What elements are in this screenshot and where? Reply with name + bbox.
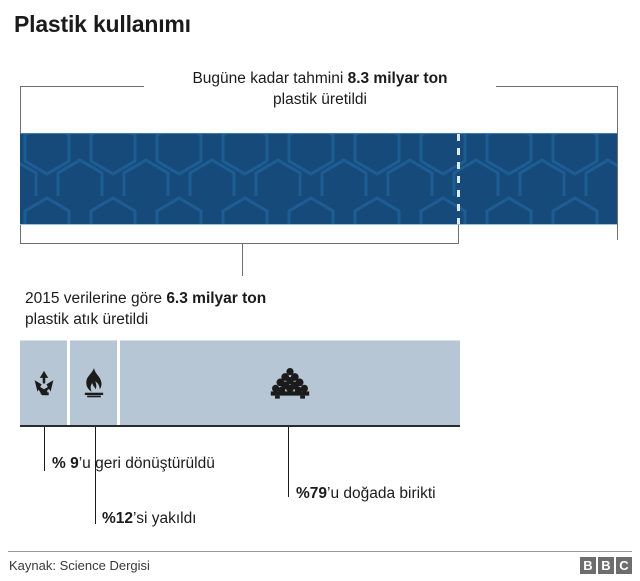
label-burned: %12’si yakıldı <box>102 509 197 529</box>
label-nature-percent: %79 <box>296 485 327 502</box>
trash-pile-icon <box>269 366 311 400</box>
waste-share-dashed-divider <box>457 134 460 224</box>
top-bracket-leg-right <box>617 86 618 240</box>
label-burned-text: ’si yakıldı <box>133 510 196 527</box>
page-title: Plastik kullanımı <box>14 11 191 38</box>
top-bracket-line-left <box>20 86 144 87</box>
total-production-amount: 8.3 milyar ton <box>348 70 448 87</box>
footer-divider <box>8 551 632 552</box>
label-nature-text: ’u doğada birikti <box>327 485 436 502</box>
infographic-root: Plastik kullanımı Bugüne kadar tahmini 8… <box>0 0 640 581</box>
waste-caption-line2: plastik atık üretildi <box>25 311 148 328</box>
source-text: Kaynak: Science Dergisi <box>9 558 150 573</box>
waste-caption-pre: 2015 verilerine göre <box>25 290 166 307</box>
total-production-caption-pre: Bugüne kadar tahmini <box>192 70 347 87</box>
label-nature: %79’u doğada birikti <box>296 484 436 504</box>
flame-icon <box>80 367 108 399</box>
bbc-logo-letter-2: B <box>598 557 614 574</box>
top-bracket-line-right <box>496 86 618 87</box>
waste-amount: 6.3 milyar ton <box>166 290 266 307</box>
leader-line-recycled <box>44 427 45 471</box>
segment-recycled[interactable] <box>20 341 67 425</box>
label-burned-percent: %12 <box>102 510 133 527</box>
leader-line-burned <box>95 427 96 524</box>
label-recycled-percent: % 9 <box>52 455 79 472</box>
waste-caption: 2015 verilerine göre 6.3 milyar ton plas… <box>25 288 266 330</box>
total-production-bar <box>20 134 617 224</box>
label-recycled: % 9’u geri dönüştürüldü <box>52 454 215 474</box>
total-production-caption: Bugüne kadar tahmini 8.3 milyar ton plas… <box>140 68 500 110</box>
label-recycled-text: ’u geri dönüştürüldü <box>79 455 215 472</box>
bottom-bracket-drop-line <box>242 243 243 276</box>
total-production-caption-line2: plastik üretildi <box>273 91 367 108</box>
bbc-logo-letter-1: B <box>580 557 596 574</box>
segment-nature[interactable] <box>120 341 460 425</box>
hexagon-pattern-icon <box>20 134 617 224</box>
bottom-bracket-leg-left <box>20 225 21 244</box>
recycle-icon <box>29 368 59 398</box>
segment-burned[interactable] <box>70 341 117 425</box>
bbc-logo: B B C <box>580 557 632 574</box>
bottom-bracket-leg-right <box>458 225 459 244</box>
blue-bar-bottom-highlight <box>20 224 617 225</box>
bbc-logo-letter-3: C <box>616 557 632 574</box>
leader-line-nature <box>288 427 289 497</box>
segment-baseline-rule <box>20 425 460 427</box>
bottom-bracket-line <box>20 243 459 244</box>
